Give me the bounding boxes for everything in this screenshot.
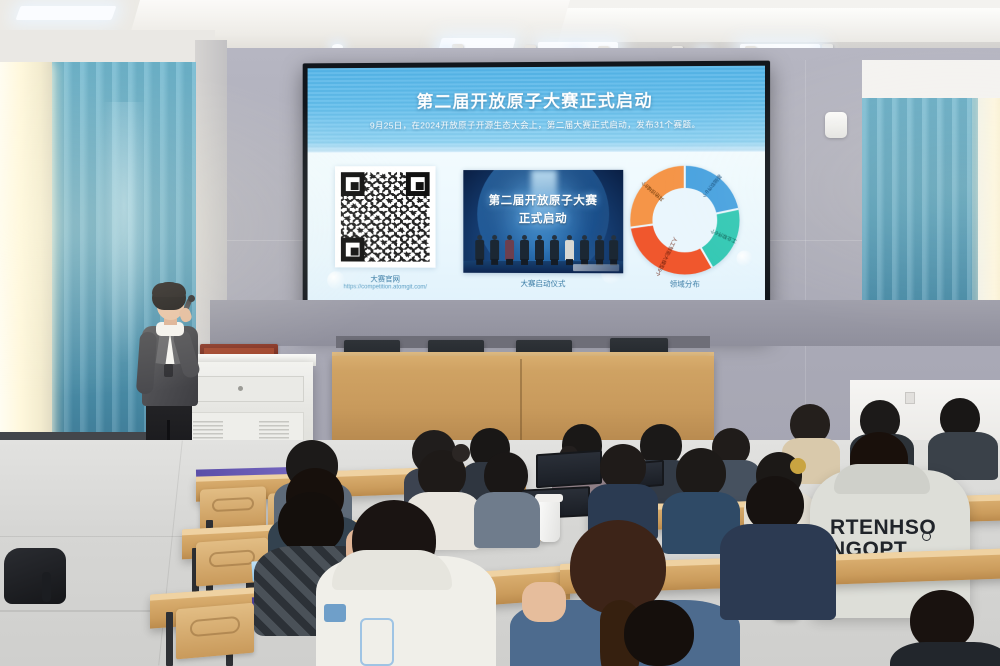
hoodie-logo [324,604,346,622]
stage-bench-seam [520,359,522,440]
launch-ceremony-photo: 第二届开放原子大赛 正式启动 [463,170,623,273]
hand-near-face [522,582,566,622]
hood-shape [834,464,930,494]
lecture-hall-photo: 第二届开放原子大赛正式启动 9月25日，在2024开放原子开源生态大会上，第二届… [0,0,1000,666]
presenter-badge [164,364,173,377]
photo-headline-line1: 第二届开放原子大赛 [463,192,623,208]
qr-code-icon [341,172,430,262]
curtain-right-blue [862,98,978,313]
curtain-right-glow [972,98,1000,313]
wall-seam-vertical [805,60,806,450]
ceiling-panel-light-1 [15,6,116,20]
presenter-hair-front [152,283,186,297]
lectern-knob [238,386,243,391]
registered-mark-icon [922,532,931,541]
presenter-hand [178,307,193,324]
slide-subtitle: 9月25日，在2024开放原子开源生态大会上，第二届大赛正式启动，发布31个赛题… [308,118,765,131]
donut-caption: 领域分布 [630,278,739,289]
microphone-head-icon [188,295,195,302]
qr-code-card [335,166,436,268]
laptop-1 [536,450,602,489]
donut-chart: 基础软件8个 工业软件6个 人工智能大模型9个 其他领域8个 [630,166,739,275]
paper-cup [538,500,560,542]
wall-socket [905,392,915,404]
backpack-strap [42,572,51,602]
backpack [4,548,66,604]
window-right [862,98,1000,313]
slide-title: 第二届开放原子大赛正式启动 [308,86,765,113]
hood-shape-2 [332,550,452,590]
paper-cup-lid [535,494,563,502]
led-screen: 第二届开放原子大赛正式启动 9月25日，在2024开放原子开源生态大会上，第二届… [303,61,770,336]
hoodie-graphic [360,618,394,666]
slide-surface: 第二届开放原子大赛正式启动 9月25日，在2024开放原子开源生态大会上，第二届… [308,66,765,331]
qr-url-text: https://competition.atomgit.com/ [311,284,459,291]
photo-headline-line2: 正式启动 [463,210,623,226]
hoodie-text-line1: RTENHSO [830,516,936,540]
sponsor-logos-graphic [573,264,619,271]
wall-speaker-icon [825,112,847,138]
seat-back-5 [176,603,254,660]
qr-caption: 大赛官网 [321,273,449,284]
curtain-left-sheer [0,62,52,462]
photo-caption: 大赛启动仪式 [463,278,623,290]
